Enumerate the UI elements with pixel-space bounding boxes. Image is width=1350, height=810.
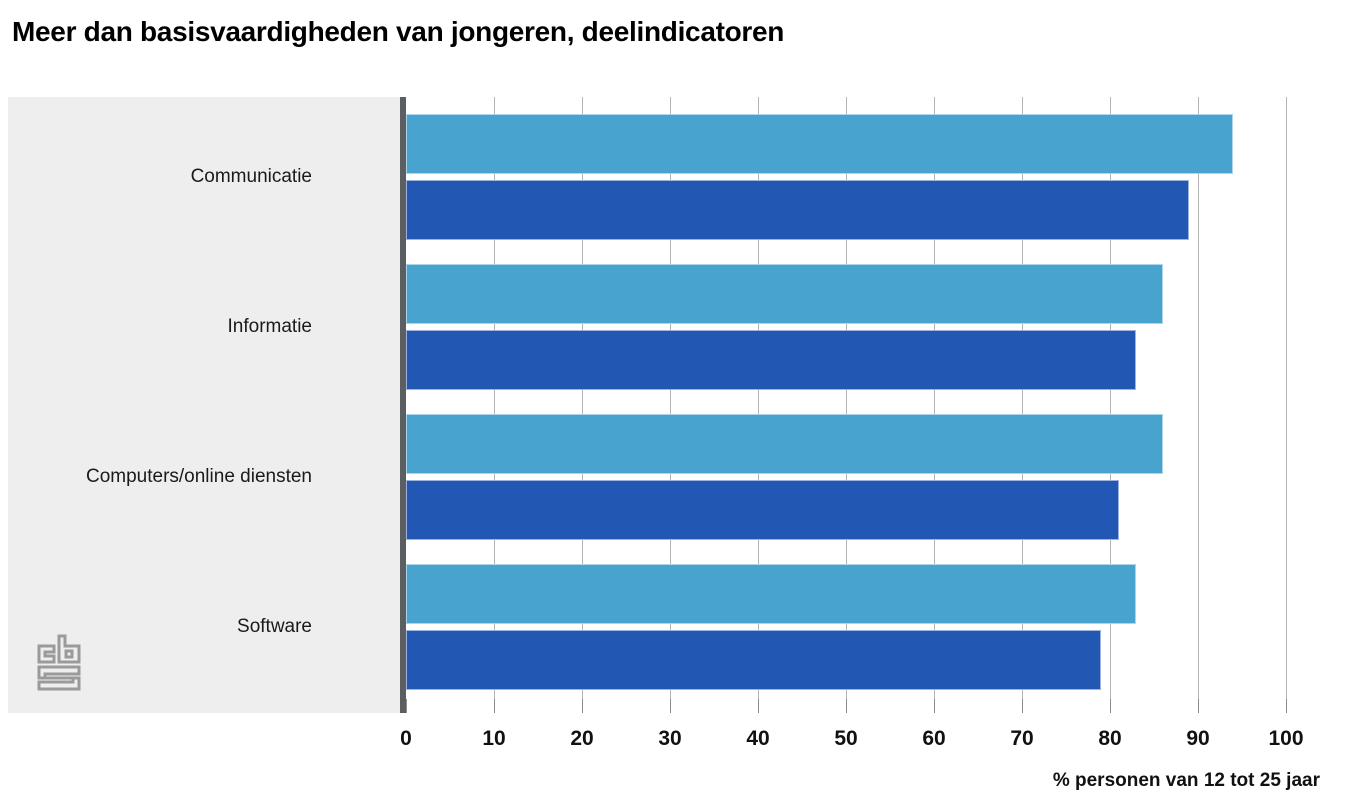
plot-area: CommunicatieInformatieComputers/online d… [8,97,1342,713]
x-tick-30 [670,699,671,713]
x-tick-60 [934,699,935,713]
x-tick-label-30: 30 [658,727,681,751]
gridline-100 [1286,97,1287,713]
bar-dark-0[interactable] [406,180,1189,240]
bar-light-1[interactable] [406,264,1163,324]
cbs-logo-icon [34,631,86,693]
x-tick-label-70: 70 [1010,727,1033,751]
hamburger-menu-button[interactable] [1305,32,1345,66]
category-label-0: Communicatie [0,166,312,188]
x-tick-40 [758,699,759,713]
x-tick-label-40: 40 [746,727,769,751]
bar-light-0[interactable] [406,114,1233,174]
x-tick-0 [406,699,407,713]
x-tick-label-20: 20 [570,727,593,751]
x-tick-20 [582,699,583,713]
bar-dark-1[interactable] [406,330,1136,390]
gridline-90 [1198,97,1199,713]
chart-page: Meer dan basisvaardigheden van jongeren,… [0,0,1350,810]
bar-light-3[interactable] [406,564,1136,624]
x-tick-100 [1286,699,1287,713]
x-axis: 0102030405060708090100 [0,713,1350,753]
x-tick-label-60: 60 [922,727,945,751]
bar-dark-3[interactable] [406,630,1101,690]
x-tick-90 [1198,699,1199,713]
x-axis-caption: % personen van 12 tot 25 jaar [1053,770,1320,792]
category-label-2: Computers/online diensten [0,466,312,488]
x-tick-70 [1022,699,1023,713]
x-tick-50 [846,699,847,713]
page-title: Meer dan basisvaardigheden van jongeren,… [12,16,1252,48]
x-tick-10 [494,699,495,713]
category-label-1: Informatie [0,316,312,338]
x-tick-label-50: 50 [834,727,857,751]
x-tick-label-90: 90 [1186,727,1209,751]
x-tick-label-100: 100 [1268,727,1303,751]
x-tick-80 [1110,699,1111,713]
bar-dark-2[interactable] [406,480,1119,540]
x-tick-label-0: 0 [400,727,412,751]
x-tick-label-80: 80 [1098,727,1121,751]
x-tick-label-10: 10 [482,727,505,751]
bar-light-2[interactable] [406,414,1163,474]
